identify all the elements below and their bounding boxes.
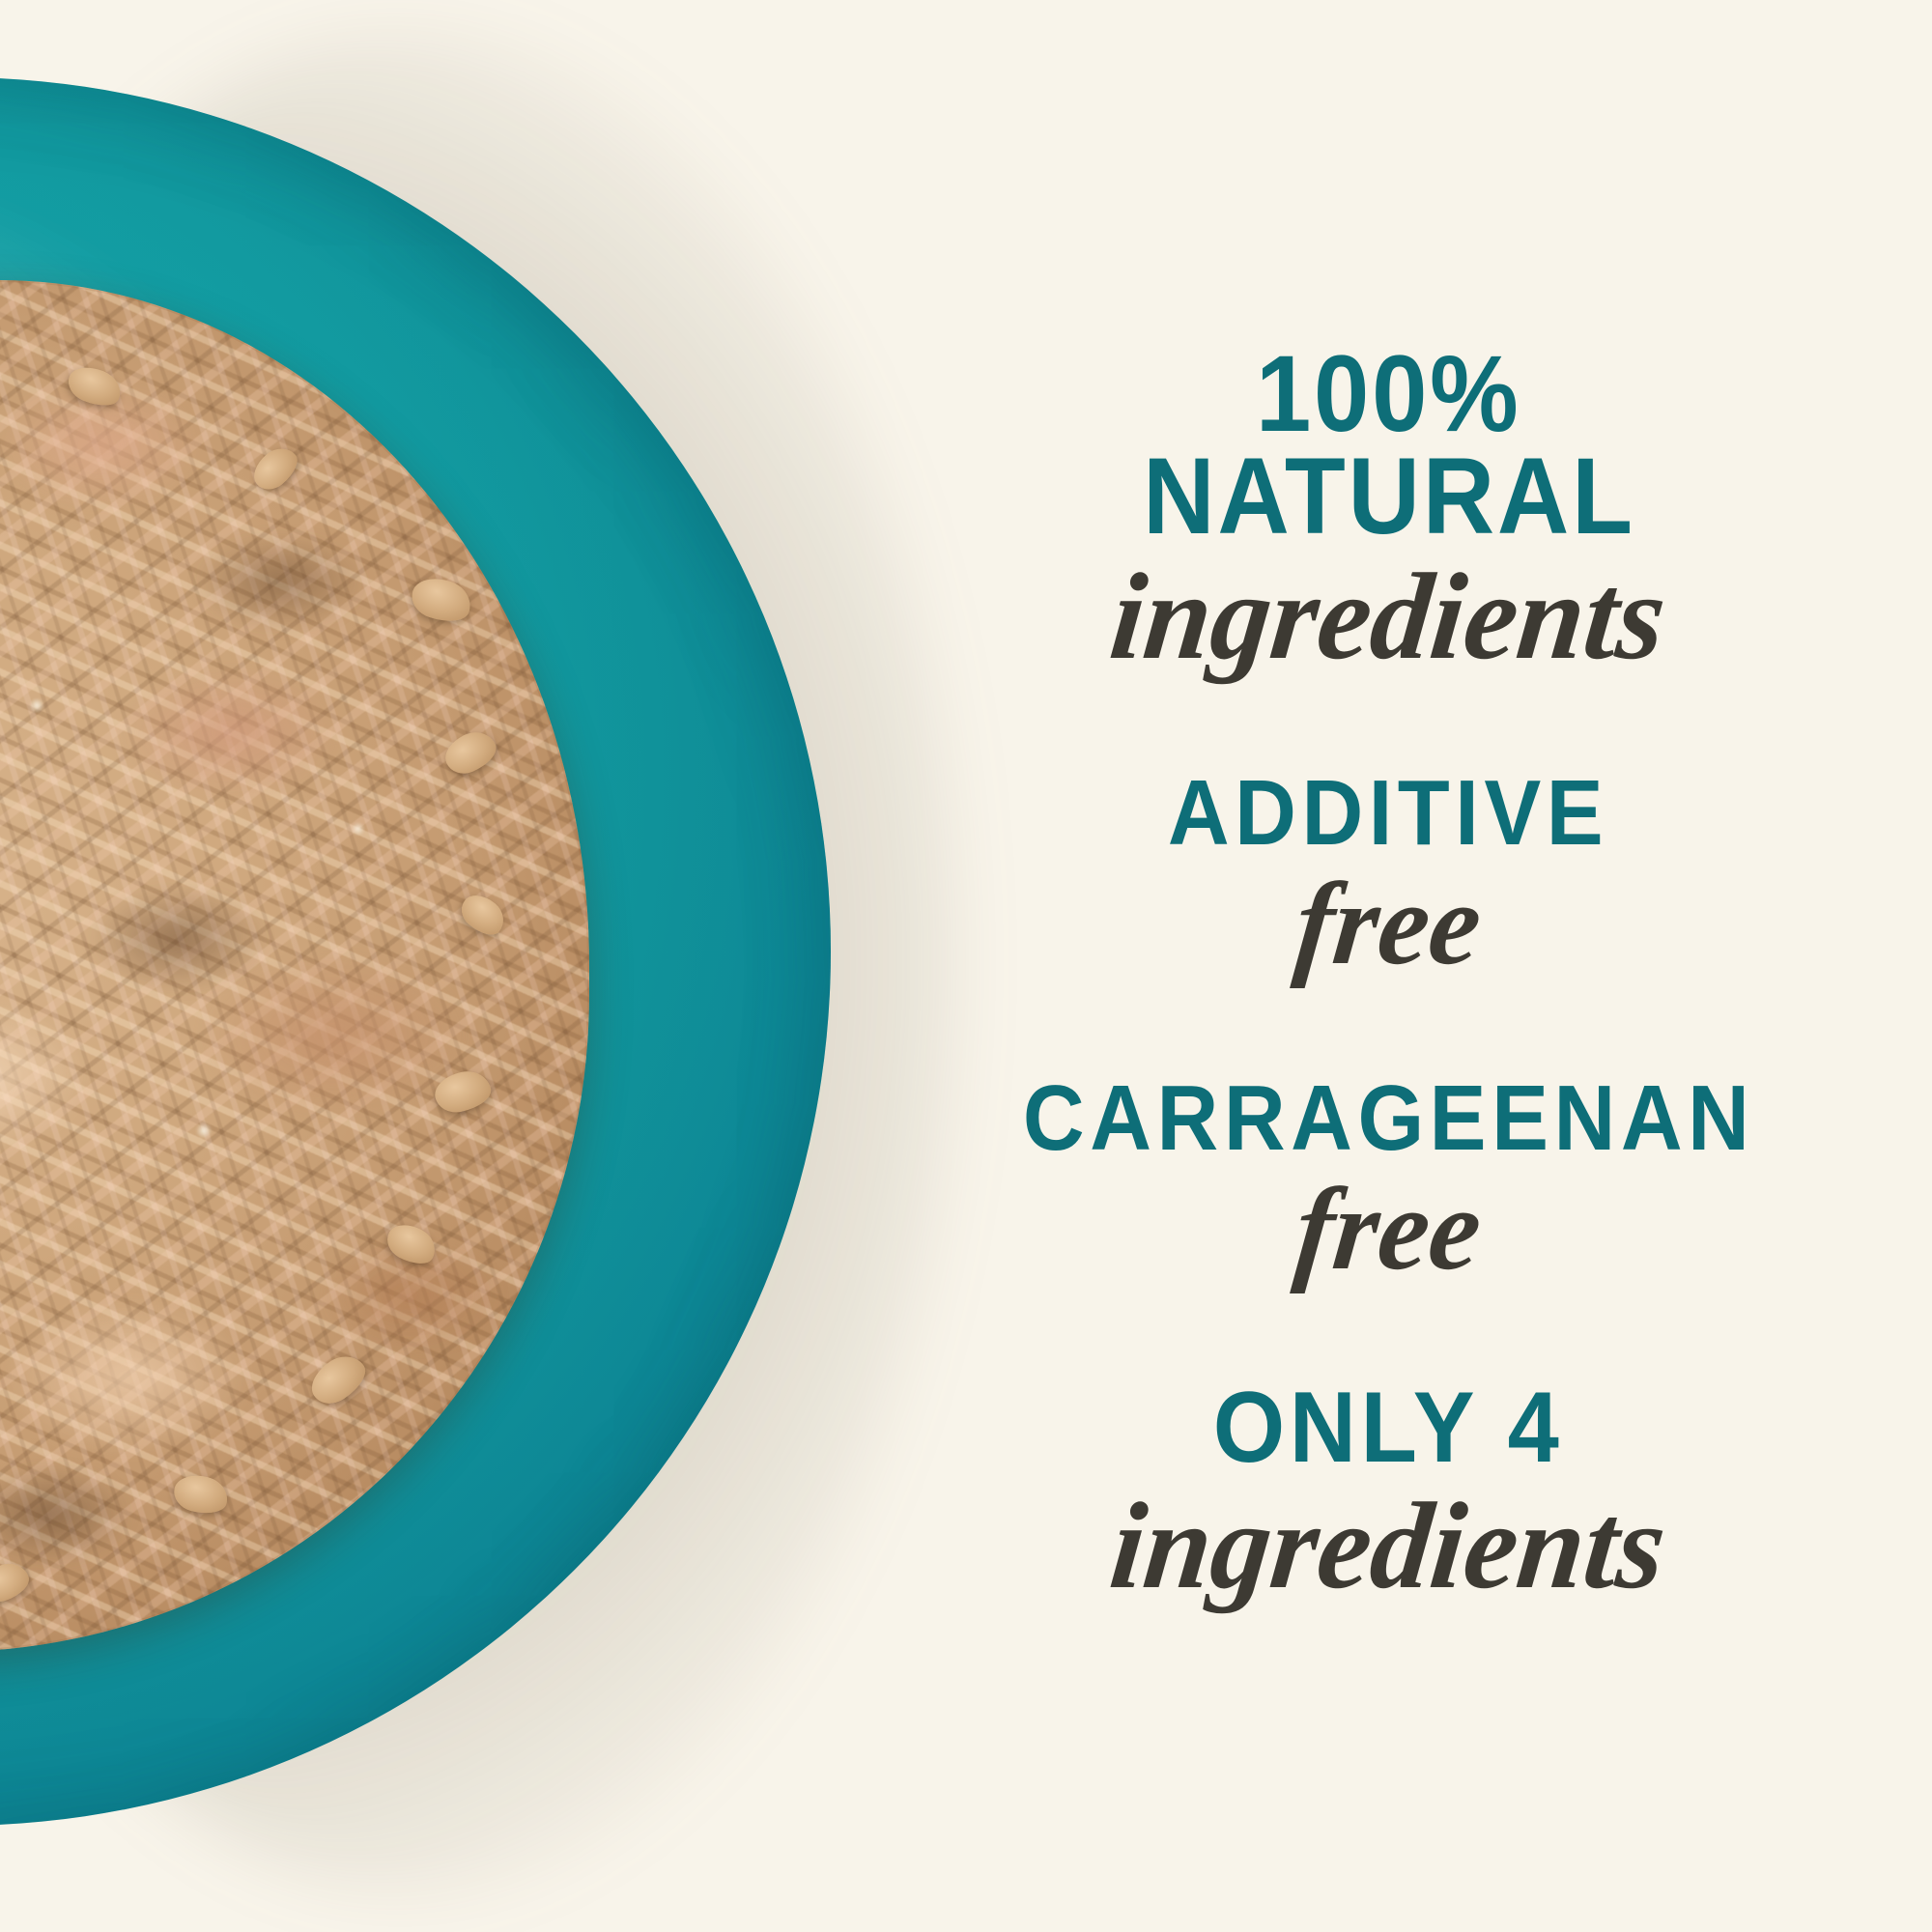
claim-only-4-ingredients: ONLY 4 ingredients bbox=[845, 1378, 1932, 1607]
claim-cap-line: CARRAGEENAN bbox=[1023, 1072, 1754, 1165]
product-claims-banner: 100% NATURAL ingredients ADDITIVE free C… bbox=[0, 0, 1932, 1932]
claim-script-line: ingredients bbox=[1105, 554, 1671, 678]
tuna-base bbox=[0, 280, 589, 1652]
claim-cap-line: ONLY 4 bbox=[1213, 1378, 1564, 1478]
claim-natural-ingredients: 100% NATURAL ingredients bbox=[845, 340, 1932, 678]
claim-script-line: ingredients bbox=[1105, 1484, 1671, 1607]
tuna-oil-highlights bbox=[0, 280, 589, 1652]
claim-script-line: free bbox=[1291, 1171, 1487, 1289]
claim-script-line: free bbox=[1291, 866, 1487, 983]
tuna-food-mound bbox=[0, 280, 589, 1652]
claim-additive-free: ADDITIVE free bbox=[845, 767, 1932, 983]
claim-cap-line: NATURAL bbox=[1143, 442, 1635, 551]
claim-cap-line: 100% bbox=[1256, 340, 1521, 448]
claim-carrageenan-free: CARRAGEENAN free bbox=[845, 1072, 1932, 1289]
claims-column: 100% NATURAL ingredients ADDITIVE free C… bbox=[845, 0, 1932, 1932]
claim-cap-line: ADDITIVE bbox=[1168, 767, 1608, 860]
